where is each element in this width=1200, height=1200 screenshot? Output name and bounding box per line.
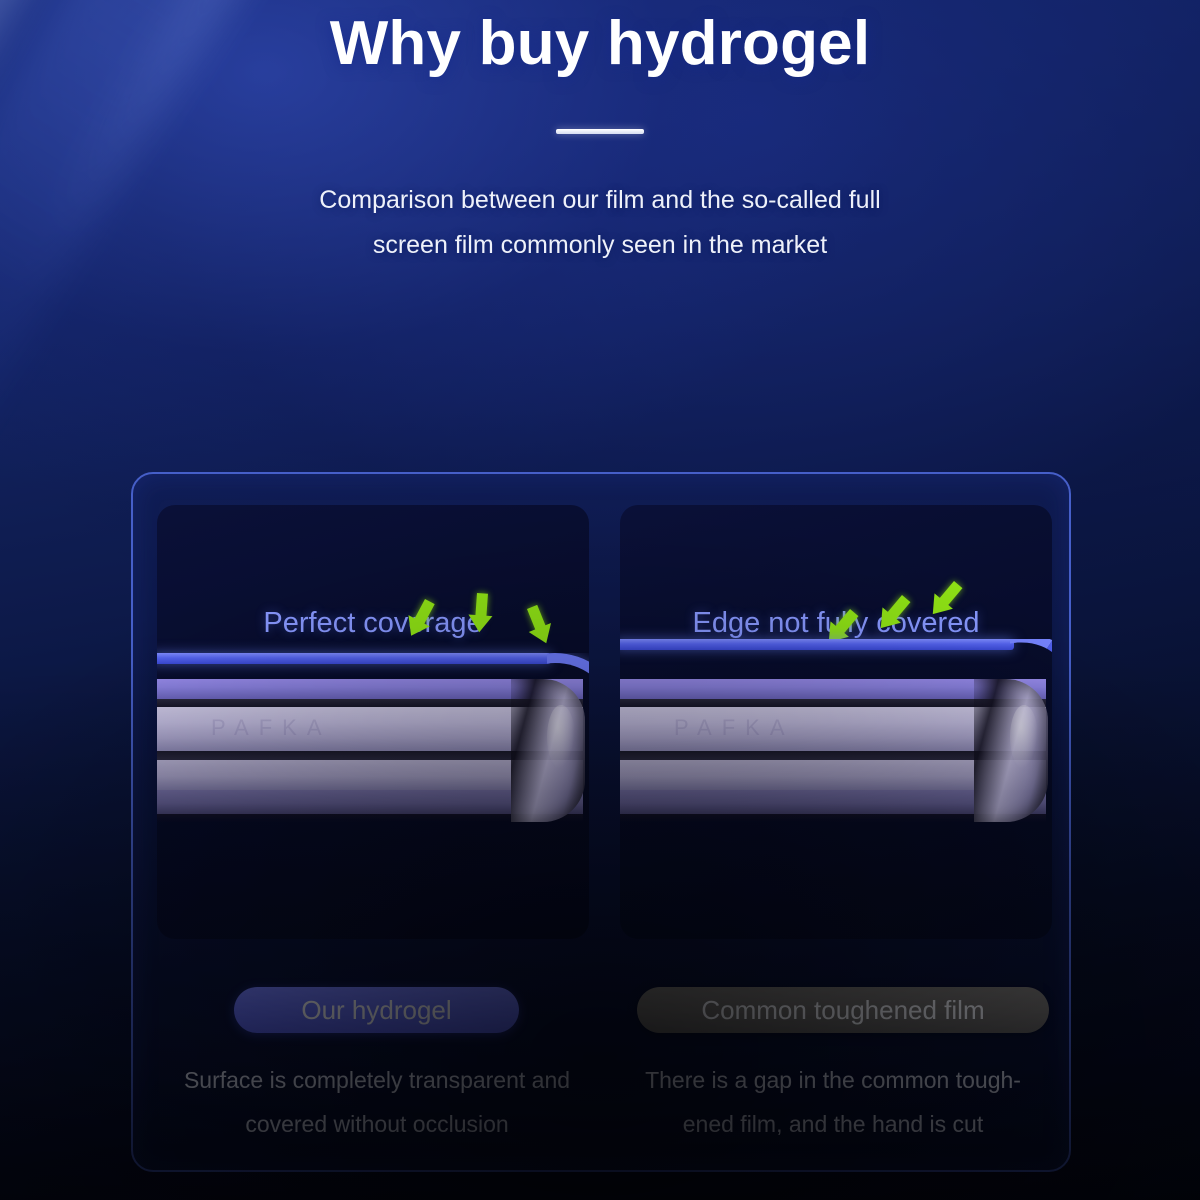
phone-edge-cap-left	[511, 679, 585, 822]
phone-edge-cap-right	[974, 679, 1048, 822]
badge-our-hydrogel: Our hydrogel	[234, 987, 519, 1033]
subtitle-line-1: Comparison between our film and the so-c…	[0, 178, 1200, 223]
caption-left-line-2: covered without occlusion	[147, 1102, 607, 1146]
light-ray	[0, 0, 8, 753]
phone-body-left: PAFKA	[157, 679, 583, 819]
panel-our-hydrogel: Perfect coverage	[157, 505, 589, 939]
caption-right-line-2: ened film, and the hand is cut	[603, 1102, 1063, 1146]
promo-banner: Why buy hydrogel Comparison between our …	[0, 0, 1200, 1200]
page-subtitle: Comparison between our film and the so-c…	[0, 178, 1200, 268]
phone-body-right: PAFKA	[620, 679, 1046, 819]
badge-common-toughened-film: Common toughened film	[637, 987, 1049, 1033]
comparison-card: Perfect coverage	[131, 472, 1071, 1172]
panel-common-toughened-film: Edge not fully covered	[620, 505, 1052, 939]
screen-protector-film-right	[620, 639, 1014, 650]
screen-protector-film-left	[157, 653, 551, 664]
phone-watermark: PAFKA	[674, 715, 795, 741]
caption-left: Surface is completely transparent and co…	[147, 1058, 607, 1146]
page-title: Why buy hydrogel	[0, 8, 1200, 79]
subtitle-line-2: screen film commonly seen in the market	[0, 223, 1200, 268]
caption-right-line-1: There is a gap in the common tough-	[603, 1058, 1063, 1102]
title-divider	[556, 129, 644, 134]
phone-illustration-right: PAFKA	[620, 609, 1052, 859]
phone-watermark: PAFKA	[211, 715, 332, 741]
caption-right: There is a gap in the common tough- ened…	[603, 1058, 1063, 1146]
caption-left-line-1: Surface is completely transparent and	[147, 1058, 607, 1102]
phone-illustration-left: PAFKA	[157, 609, 589, 859]
light-ray	[0, 0, 114, 617]
